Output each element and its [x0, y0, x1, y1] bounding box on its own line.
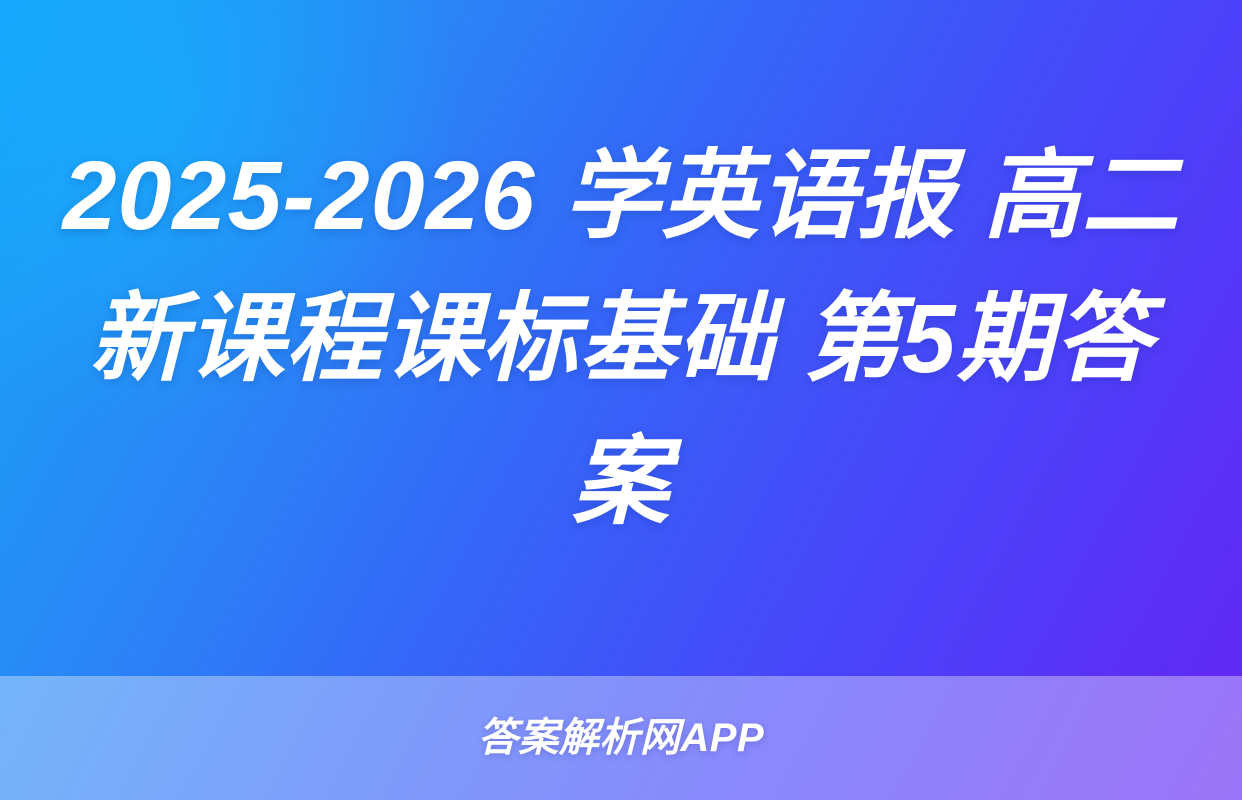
- poster-canvas: 2025-2026 学英语报 高二 新课程课标基础 第5期答案 答案解析网APP: [0, 0, 1242, 800]
- page-title: 2025-2026 学英语报 高二 新课程课标基础 第5期答案: [60, 124, 1182, 553]
- footer-brand-label: 答案解析网APP: [478, 716, 764, 760]
- title-block: 2025-2026 学英语报 高二 新课程课标基础 第5期答案: [0, 0, 1242, 676]
- footer-brand-band: 答案解析网APP: [0, 676, 1242, 800]
